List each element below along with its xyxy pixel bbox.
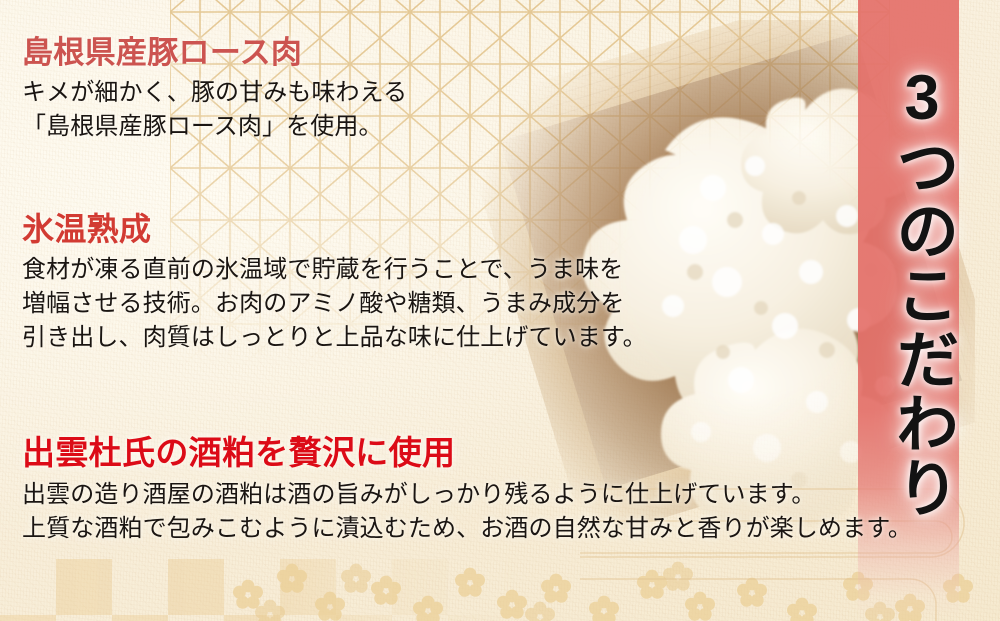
body-line: 出雲の造り酒屋の酒粕は酒の旨みがしっかり残るように仕上げています。: [22, 478, 912, 512]
body-line: 引き出し、肉質はしっとりと上品な味に仕上げています。: [22, 321, 647, 355]
body-line: 上質な酒粕で包みこむように漬込むため、お酒の自然な甘みと香りが楽しめます。: [22, 512, 912, 546]
section-sakekasu-heading: 出雲杜氏の酒粕を贅沢に使用: [22, 436, 912, 472]
body-line: 食材が凍る直前の氷温域で貯蔵を行うことで、うま味を: [22, 253, 647, 287]
section-pork-body: キメが細かく、豚の甘みも味わえる 「島根県産豚ロース肉」を使用。: [22, 76, 407, 144]
section-hyoon: 氷温熟成 食材が凍る直前の氷温域で貯蔵を行うことで、うま味を 増幅させる技術。お…: [22, 212, 647, 355]
section-hyoon-body: 食材が凍る直前の氷温域で貯蔵を行うことで、うま味を 増幅させる技術。お肉のアミノ…: [22, 253, 647, 355]
section-sakekasu: 出雲杜氏の酒粕を贅沢に使用 出雲の造り酒屋の酒粕は酒の旨みがしっかり残るように仕…: [22, 436, 912, 546]
promo-banner: 3つのこだわり 島根県産豚ロース肉 キメが細かく、豚の甘みも味わえる 「島根県産…: [0, 0, 1000, 621]
section-hyoon-heading: 氷温熟成: [22, 212, 647, 247]
body-line: 増幅させる技術。お肉のアミノ酸や糖類、うまみ成分を: [22, 287, 647, 321]
section-pork: 島根県産豚ロース肉 キメが細かく、豚の甘みも味わえる 「島根県産豚ロース肉」を使…: [22, 36, 407, 144]
body-line: 「島根県産豚ロース肉」を使用。: [22, 110, 407, 144]
content-area: 島根県産豚ロース肉 キメが細かく、豚の甘みも味わえる 「島根県産豚ロース肉」を使…: [0, 0, 1000, 621]
body-line: キメが細かく、豚の甘みも味わえる: [22, 76, 407, 110]
section-pork-heading: 島根県産豚ロース肉: [22, 36, 407, 70]
section-sakekasu-body: 出雲の造り酒屋の酒粕は酒の旨みがしっかり残るように仕上げています。 上質な酒粕で…: [22, 478, 912, 546]
